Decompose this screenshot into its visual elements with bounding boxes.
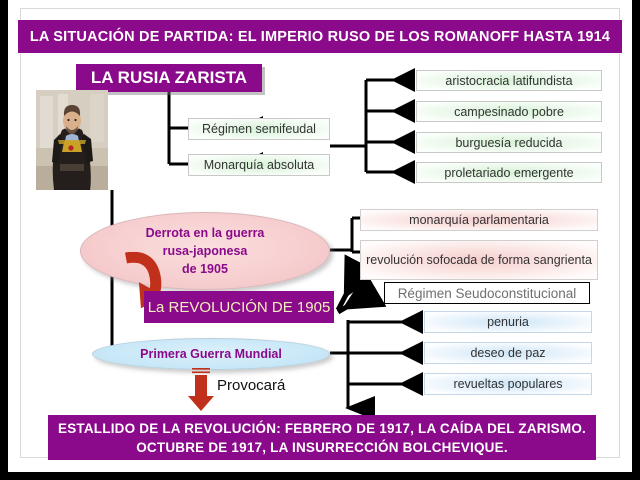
node-la-rusia-zarista[interactable]: LA RUSIA ZARISTA	[76, 64, 262, 92]
box-regimen-seudoconstitucional[interactable]: Régimen Seudoconstitucional	[384, 282, 590, 304]
slide-canvas: LA SITUACIÓN DE PARTIDA: EL IMPERIO RUSO…	[8, 0, 632, 472]
box-regimen-semifeudal[interactable]: Régimen semifeudal	[188, 118, 330, 140]
box-revolucion-sofocada[interactable]: revolución sofocada de forma sangrienta	[360, 240, 598, 280]
box-proletariado-emergente[interactable]: proletariado emergente	[416, 162, 602, 183]
bottom-banner-line-1: ESTALLIDO DE LA REVOLUCIÓN: FEBRERO DE 1…	[58, 419, 586, 438]
red-down-arrow-icon	[186, 368, 216, 412]
portrait-artwork	[36, 90, 108, 190]
portrait-nicolas-ii-image	[36, 90, 108, 190]
title-banner: LA SITUACIÓN DE PARTIDA: EL IMPERIO RUSO…	[18, 20, 622, 53]
label-provocara: Provocará	[217, 377, 285, 394]
box-aristocracia-latifundista[interactable]: aristocracia latifundista	[416, 70, 602, 91]
box-monarquia-parlamentaria[interactable]: monarquía parlamentaria	[360, 209, 598, 231]
derrota-line-1: Derrota en la guerra	[146, 224, 265, 242]
box-campesinado-pobre[interactable]: campesinado pobre	[416, 101, 602, 122]
box-burguesia-reducida[interactable]: burguesía reducida	[416, 132, 602, 153]
box-deseo-de-paz[interactable]: deseo de paz	[424, 342, 592, 364]
node-la-revolucion-de-1905[interactable]: La REVOLUCIÓN DE 1905	[144, 291, 334, 323]
bottom-banner: ESTALLIDO DE LA REVOLUCIÓN: FEBRERO DE 1…	[48, 415, 596, 460]
box-revueltas-populares[interactable]: revueltas populares	[424, 373, 592, 395]
box-monarquia-absoluta[interactable]: Monarquía absoluta	[188, 154, 330, 176]
node-primera-guerra-mundial[interactable]: Primera Guerra Mundial	[92, 338, 330, 370]
box-penuria[interactable]: penuria	[424, 311, 592, 333]
bottom-banner-line-2: OCTUBRE DE 1917, LA INSURRECCIÓN BOLCHEV…	[136, 438, 508, 457]
